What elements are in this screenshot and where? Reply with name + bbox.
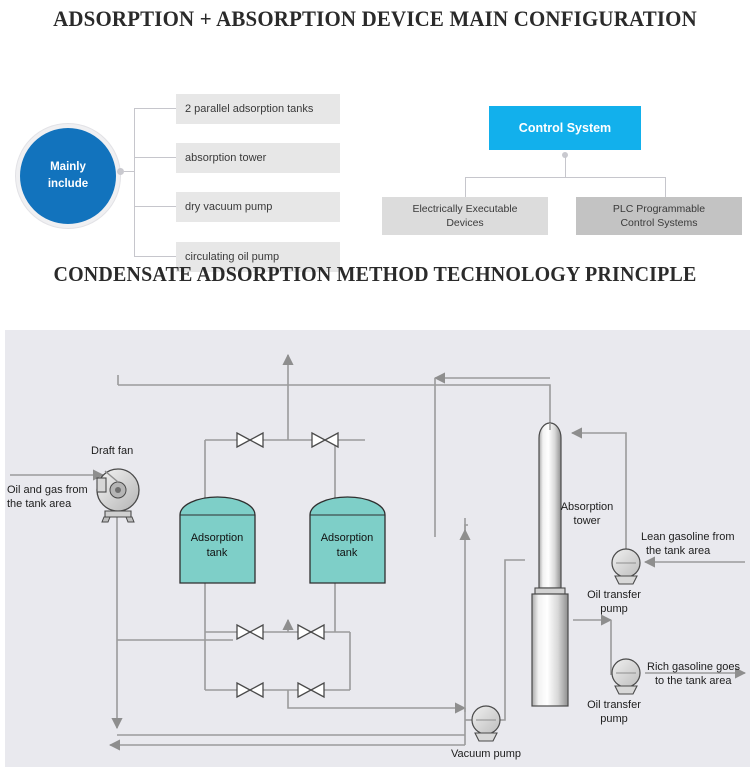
tower-label-line2: tower — [574, 515, 601, 527]
valve-mid-right-b — [311, 625, 324, 639]
valve-low-left-a — [237, 683, 250, 697]
control-connector-right-drop — [665, 177, 666, 197]
label-rich-line2: to the tank area — [655, 675, 732, 687]
label-inlet-line2: the tank area — [7, 498, 72, 510]
pipe-vac-to-tower — [496, 560, 525, 720]
hub-connector-dot — [117, 168, 124, 175]
oil-transfer-pump-lower[interactable] — [612, 659, 640, 694]
control-leaf-1-line1: PLC Programmable — [613, 202, 705, 216]
connector-stub — [124, 171, 135, 172]
draft-fan[interactable] — [97, 469, 139, 522]
control-leaf-plc-systems[interactable]: PLC Programmable Control Systems — [576, 197, 742, 235]
valve-top-right-b — [325, 433, 338, 447]
pipe-to-vacuum — [288, 690, 465, 708]
valve-low-left-b — [250, 683, 263, 697]
adsorption-tank-left[interactable]: Adsorption tank — [180, 497, 255, 583]
config-item-1-label: absorption tower — [185, 152, 266, 164]
config-item-2[interactable]: dry vacuum pump — [176, 192, 340, 222]
config-item-0-label: 2 parallel adsorption tanks — [185, 103, 313, 115]
config-item-0[interactable]: 2 parallel adsorption tanks — [176, 94, 340, 124]
label-oil-pump-lower-line1: Oil transfer — [587, 699, 641, 711]
config-item-2-label: dry vacuum pump — [185, 201, 272, 213]
control-leaf-0-line1: Electrically Executable — [412, 202, 517, 216]
tank-left-label-line1: Adsorption — [191, 532, 244, 544]
control-connector-left-drop — [465, 177, 466, 197]
tower-label-line1: Absorption — [561, 501, 614, 513]
label-inlet-line1: Oil and gas from — [7, 484, 88, 496]
absorption-tower[interactable]: Absorption tower — [532, 423, 613, 706]
valve-top-right-a — [312, 433, 325, 447]
hub-label-line2: include — [48, 176, 88, 193]
config-item-1[interactable]: absorption tower — [176, 143, 340, 173]
control-connector-vertical — [565, 156, 566, 177]
valve-mid-left-a — [237, 625, 250, 639]
label-rich-line1: Rich gasoline goes — [647, 661, 740, 673]
adsorption-tank-right[interactable]: Adsorption tank — [310, 497, 385, 583]
connector-branch-1 — [134, 108, 176, 109]
label-lean-line1: Lean gasoline from — [641, 531, 735, 543]
hub-mainly-include[interactable]: Mainly include — [16, 124, 120, 228]
tank-right-label-line2: tank — [337, 547, 358, 559]
page-title-principle: CONDENSATE ADSORPTION METHOD TECHNOLOGY … — [19, 262, 732, 286]
label-oil-pump-upper-line2: pump — [600, 603, 628, 615]
label-oil-pump-upper-line1: Oil transfer — [587, 589, 641, 601]
control-leaf-electrical-devices[interactable]: Electrically Executable Devices — [382, 197, 548, 235]
connector-branch-3 — [134, 206, 176, 207]
connector-spine — [134, 108, 135, 257]
connector-branch-4 — [134, 256, 176, 257]
control-system-box[interactable]: Control System — [489, 106, 641, 150]
process-flow-diagram: Adsorption tank Adsorption tank — [5, 330, 750, 767]
process-flow-svg: Adsorption tank Adsorption tank — [5, 330, 750, 767]
valve-mid-left-b — [250, 625, 263, 639]
valve-mid-right-a — [298, 625, 311, 639]
vacuum-pump[interactable] — [472, 706, 500, 741]
pipe-tower-top-out — [118, 385, 550, 430]
page-title-configuration: ADSORPTION + ABSORPTION DEVICE MAIN CONF… — [19, 0, 732, 32]
pipe-lean-to-tower — [572, 433, 626, 554]
label-lean-line2: the tank area — [646, 545, 711, 557]
hub-label-line1: Mainly — [50, 159, 86, 176]
control-system-label: Control System — [519, 121, 611, 135]
valve-low-right-b — [311, 683, 324, 697]
oil-transfer-pump-upper[interactable] — [612, 549, 640, 584]
control-connector-horizontal — [465, 177, 666, 178]
valve-top-left-b — [250, 433, 263, 447]
label-draft-fan: Draft fan — [91, 445, 133, 457]
label-vacuum-pump: Vacuum pump — [451, 748, 521, 760]
tank-right-label-line1: Adsorption — [321, 532, 374, 544]
control-leaf-0-line2: Devices — [412, 216, 517, 230]
valve-low-right-a — [298, 683, 311, 697]
connector-branch-2 — [134, 157, 176, 158]
control-leaf-1-line2: Control Systems — [613, 216, 705, 230]
tank-left-label-line2: tank — [207, 547, 228, 559]
valve-top-left-a — [237, 433, 250, 447]
configuration-diagram: Mainly include 2 parallel adsorption tan… — [0, 32, 750, 262]
label-oil-pump-lower-line2: pump — [600, 713, 628, 725]
